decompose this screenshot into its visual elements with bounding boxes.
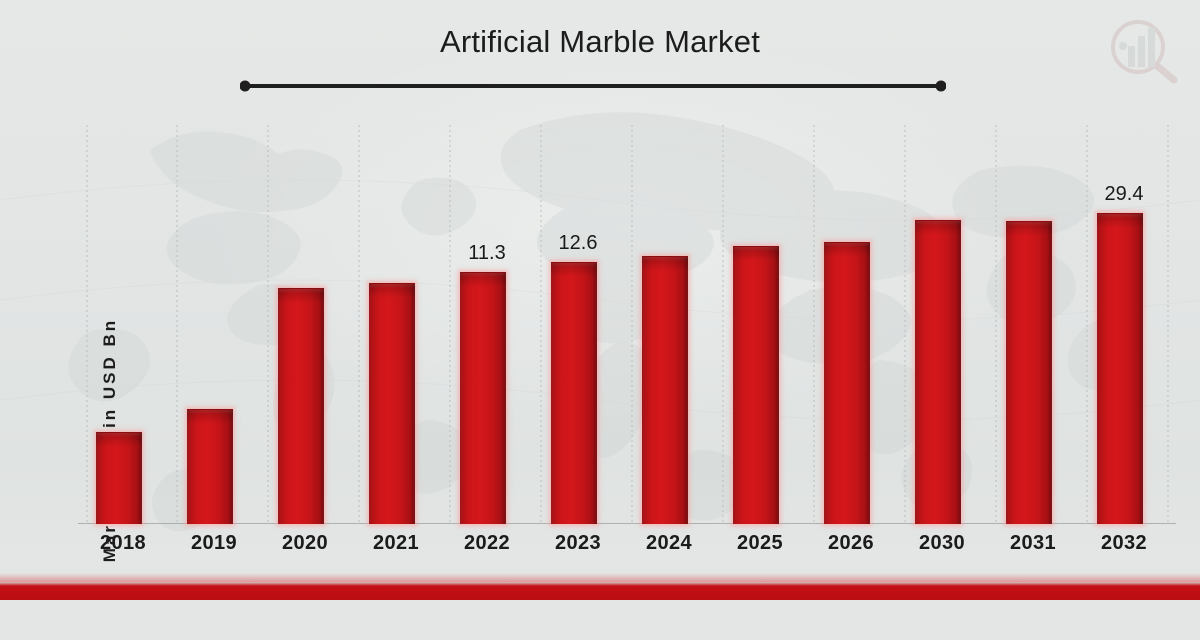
bar-slot[interactable] (624, 120, 714, 524)
bar[interactable] (915, 220, 961, 524)
bar-slot[interactable] (988, 120, 1078, 524)
x-axis-tick-2022: 2022 (442, 532, 532, 555)
x-axis-tick-2032: 2032 (1079, 532, 1169, 555)
bar[interactable] (278, 288, 324, 524)
bar-series: 11.3 12.6 (78, 120, 1176, 524)
bar-slot[interactable]: 29.4 (1079, 120, 1169, 524)
x-axis-tick-2026: 2026 (806, 532, 896, 555)
bar-slot[interactable]: 12.6 (533, 120, 623, 524)
infographic-canvas: Artificial Marble Market Market Size in … (0, 0, 1200, 600)
bar-slot[interactable] (897, 120, 987, 524)
x-axis-labels: 2018 2019 2020 2021 2022 2023 2024 2025 … (78, 532, 1176, 562)
plot-area: Market Size in USD Bn (78, 120, 1176, 524)
bottom-accent-band (0, 582, 1200, 600)
page-title: Artificial Marble Market (0, 24, 1200, 60)
x-axis-tick-2031: 2031 (988, 532, 1078, 555)
bar-slot[interactable] (260, 120, 350, 524)
bar-slot[interactable] (806, 120, 896, 524)
bar-value-label: 11.3 (442, 242, 532, 265)
bar[interactable] (551, 262, 597, 524)
bar[interactable] (733, 246, 779, 524)
bar-slot[interactable] (78, 120, 168, 524)
bar-slot[interactable] (169, 120, 259, 524)
bar[interactable] (96, 432, 142, 524)
bottom-band-glow (0, 573, 1200, 582)
bar-value-label: 12.6 (533, 232, 623, 255)
bar-slot[interactable]: 11.3 (442, 120, 532, 524)
x-axis-tick-2019: 2019 (169, 532, 259, 555)
x-axis-tick-2023: 2023 (533, 532, 623, 555)
bar[interactable] (824, 242, 870, 524)
x-axis-tick-2018: 2018 (78, 532, 168, 555)
bar[interactable] (369, 283, 415, 524)
bar[interactable] (460, 272, 506, 524)
x-axis-tick-2021: 2021 (351, 532, 441, 555)
x-axis-tick-2020: 2020 (260, 532, 350, 555)
bar[interactable] (1006, 221, 1052, 524)
bar[interactable] (187, 409, 233, 524)
bar[interactable] (1097, 213, 1143, 524)
title-divider-rule (240, 80, 946, 92)
x-axis-tick-2030: 2030 (897, 532, 987, 555)
bar-slot[interactable] (715, 120, 805, 524)
bar[interactable] (642, 256, 688, 524)
bar-slot[interactable] (351, 120, 441, 524)
bar-value-label: 29.4 (1079, 183, 1169, 206)
x-axis-tick-2024: 2024 (624, 532, 714, 555)
x-axis-tick-2025: 2025 (715, 532, 805, 555)
